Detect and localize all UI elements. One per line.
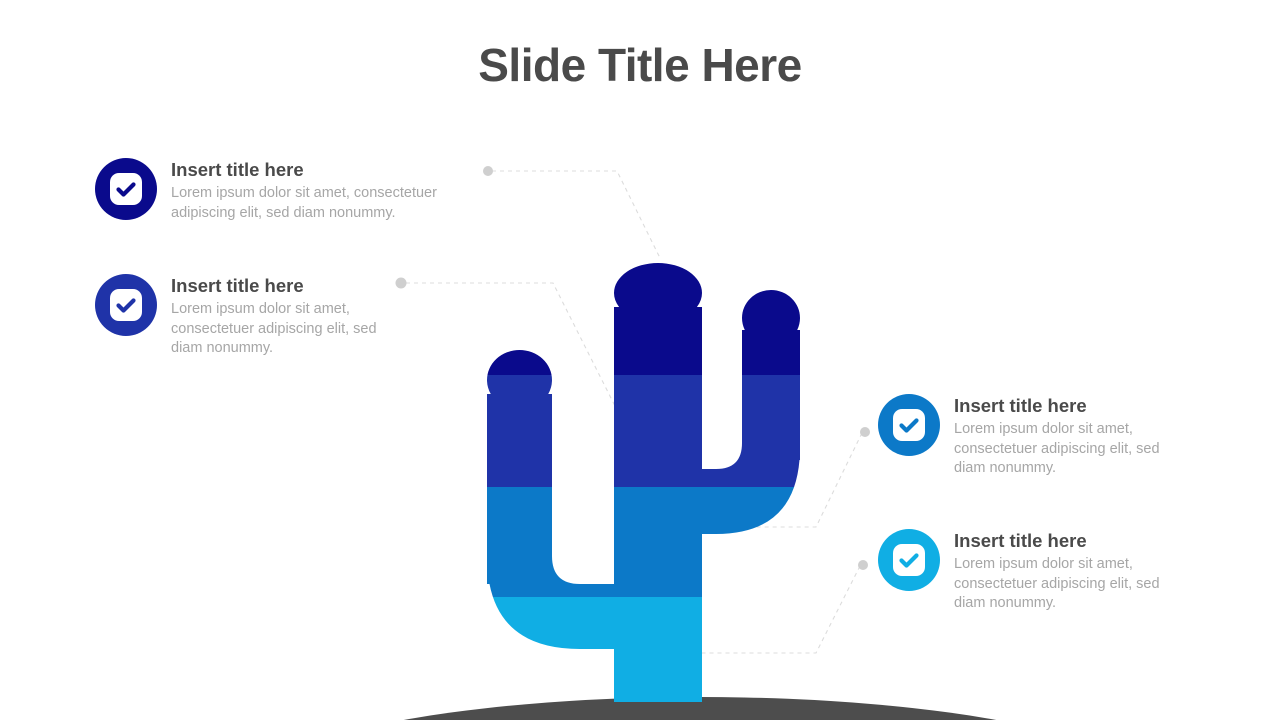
slide-canvas: Slide Title Here (0, 0, 1280, 720)
check-circle-icon[interactable] (95, 158, 157, 220)
callout-item[interactable]: Insert title here Lorem ipsum dolor sit … (878, 394, 1164, 479)
cactus-band-blue (400, 375, 860, 487)
check-mark-icon (893, 544, 925, 576)
check-circle-icon[interactable] (878, 394, 940, 456)
callout-item[interactable]: Insert title here Lorem ipsum dolor sit … (878, 529, 1164, 614)
cactus-band-medium (400, 487, 860, 597)
check-circle-icon[interactable] (878, 529, 940, 591)
callout-text-group: Insert title here Lorem ipsum dolor sit … (940, 394, 1164, 479)
callout-body: Lorem ipsum dolor sit amet, consectetuer… (954, 555, 1164, 614)
callout-title: Insert title here (171, 274, 379, 297)
callout-body: Lorem ipsum dolor sit amet, consectetuer… (954, 420, 1164, 479)
callout-text-group: Insert title here Lorem ipsum dolor sit … (157, 158, 471, 223)
check-circle-icon[interactable] (95, 274, 157, 336)
callout-body: Lorem ipsum dolor sit amet, consectetuer… (171, 300, 379, 359)
callout-title: Insert title here (171, 158, 471, 181)
check-mark-icon (110, 173, 142, 205)
check-mark-icon (110, 289, 142, 321)
callout-body: Lorem ipsum dolor sit amet, consectetuer… (171, 184, 471, 223)
callout-item[interactable]: Insert title here Lorem ipsum dolor sit … (95, 274, 379, 359)
callout-text-group: Insert title here Lorem ipsum dolor sit … (940, 529, 1164, 614)
callout-title: Insert title here (954, 394, 1164, 417)
check-mark-icon (893, 409, 925, 441)
callout-title: Insert title here (954, 529, 1164, 552)
callout-item[interactable]: Insert title here Lorem ipsum dolor sit … (95, 158, 471, 223)
callout-text-group: Insert title here Lorem ipsum dolor sit … (157, 274, 379, 359)
cactus-band-navy (400, 240, 860, 375)
